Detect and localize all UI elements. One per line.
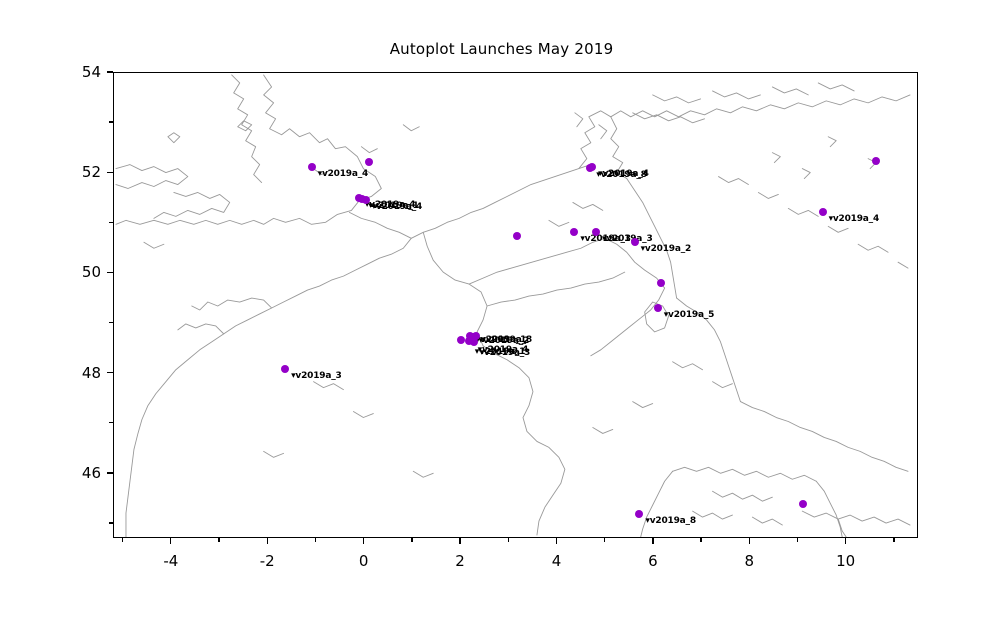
scatter-point[interactable] <box>470 338 478 346</box>
y-axis-minor-tick <box>109 522 113 523</box>
x-axis-minor-tick <box>122 538 123 542</box>
scatter-point[interactable] <box>819 208 827 216</box>
scatter-point[interactable] <box>281 365 289 373</box>
x-axis-minor-tick <box>218 538 219 542</box>
scatter-point[interactable] <box>872 157 880 165</box>
map-coastlines <box>114 73 917 537</box>
y-axis-tick <box>107 272 113 273</box>
y-axis-tick <box>107 372 113 373</box>
scatter-point[interactable] <box>513 232 521 240</box>
x-axis-tick-label: 2 <box>455 552 465 570</box>
x-axis-minor-tick <box>411 538 412 542</box>
scatter-point-label: ▾v2019a_3 <box>291 371 341 381</box>
x-axis-minor-tick <box>508 538 509 542</box>
scatter-point[interactable] <box>635 510 643 518</box>
x-axis-tick-label: 0 <box>359 552 369 570</box>
x-axis-minor-tick <box>700 538 701 542</box>
y-axis-tick-label: 50 <box>61 263 101 281</box>
map-axes[interactable]: ▾v2019a_4▾v2019a_4▾v2019a_1▾v2019a_4▾v20… <box>113 72 918 538</box>
scatter-point[interactable] <box>570 228 578 236</box>
x-axis-minor-tick <box>315 538 316 542</box>
scatter-point-label: ▾v2019a_4 <box>829 214 879 224</box>
y-axis-tick-label: 46 <box>61 464 101 482</box>
x-axis-tick <box>845 538 846 544</box>
scatter-point[interactable] <box>308 163 316 171</box>
x-axis-tick <box>556 538 557 544</box>
scatter-point-label: ▾v2019a_3 <box>480 348 530 358</box>
y-axis-tick <box>107 172 113 173</box>
scatter-point-label: ▾v2019a_2 <box>641 244 691 254</box>
x-axis-tick-label: 8 <box>745 552 755 570</box>
x-axis-tick-label: -2 <box>260 552 275 570</box>
x-axis-minor-tick <box>604 538 605 542</box>
y-axis-tick-label: 52 <box>61 163 101 181</box>
scatter-point-label: ▾v2019a_4 <box>318 169 368 179</box>
scatter-point-label: ▾v2019a_8 <box>596 170 646 180</box>
x-axis-tick-label: 10 <box>836 552 855 570</box>
scatter-point-label: ▾v2019a_8 <box>645 516 695 526</box>
y-axis-minor-tick <box>109 121 113 122</box>
x-axis-minor-tick <box>797 538 798 542</box>
figure-canvas: Autoplot Launches May 2019 <box>0 0 1003 633</box>
x-axis-tick <box>749 538 750 544</box>
x-axis-tick-label: 4 <box>552 552 562 570</box>
scatter-point[interactable] <box>654 304 662 312</box>
x-axis-minor-tick <box>893 538 894 542</box>
y-axis-tick <box>107 71 113 72</box>
scatter-point[interactable] <box>631 238 639 246</box>
scatter-point-label: ▾v2019a_5 <box>664 310 714 320</box>
x-axis-tick-label: 6 <box>648 552 658 570</box>
scatter-point-label: ▾v2019a_3 <box>602 234 652 244</box>
y-axis-tick-label: 54 <box>61 63 101 81</box>
scatter-point[interactable] <box>657 279 665 287</box>
x-axis-tick-label: -4 <box>163 552 178 570</box>
y-axis-tick <box>107 472 113 473</box>
x-axis-tick <box>170 538 171 544</box>
x-axis-tick <box>363 538 364 544</box>
scatter-point[interactable] <box>365 158 373 166</box>
y-axis-minor-tick <box>109 322 113 323</box>
scatter-point[interactable] <box>592 228 600 236</box>
scatter-point-label: ▾v2019a_8 <box>482 335 532 345</box>
scatter-point[interactable] <box>586 164 594 172</box>
scatter-point[interactable] <box>362 196 370 204</box>
chart-title: Autoplot Launches May 2019 <box>0 40 1003 58</box>
y-axis-tick-label: 48 <box>61 364 101 382</box>
y-axis-minor-tick <box>109 422 113 423</box>
x-axis-tick <box>459 538 460 544</box>
y-axis-minor-tick <box>109 222 113 223</box>
x-axis-tick <box>652 538 653 544</box>
scatter-point-label: ▾v2019a_4 <box>372 202 422 212</box>
x-axis-tick <box>267 538 268 544</box>
scatter-point[interactable] <box>799 500 807 508</box>
